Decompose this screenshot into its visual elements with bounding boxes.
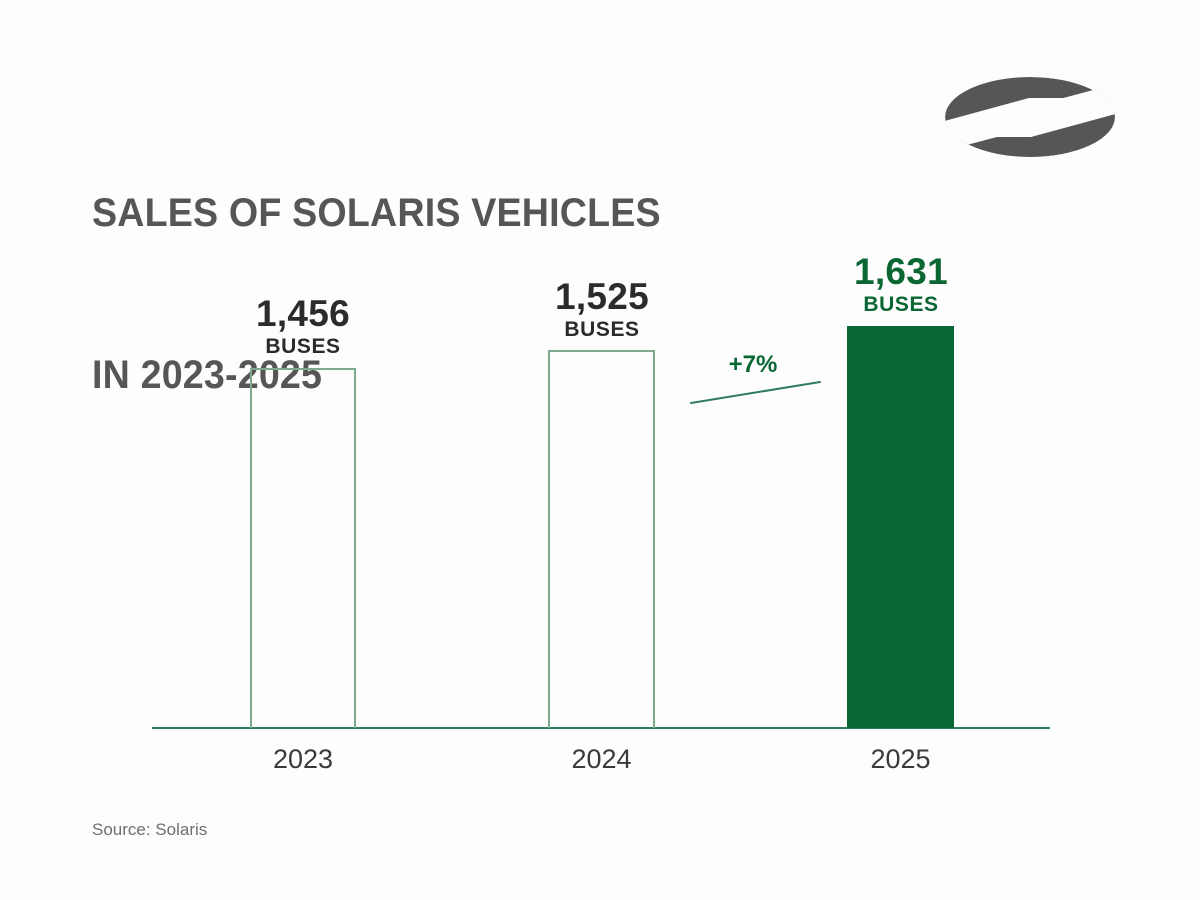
bar-value-unit-2023: BUSES (190, 334, 416, 360)
bar-value-number-2024: 1,525 (489, 277, 715, 317)
x-axis-label-2023: 2023 (233, 742, 373, 776)
bar-chart: 1,456 BUSES 2023 1,525 BUSES 2024 1,631 … (0, 0, 1200, 900)
bar-value-label-2025: 1,631 BUSES (788, 252, 1014, 318)
growth-trend-line-icon (686, 372, 826, 412)
bar-value-label-2024: 1,525 BUSES (489, 277, 715, 343)
bar-2023[interactable] (250, 368, 356, 728)
chart-page: SALES OF SOLARIS VEHICLES IN 2023-2025 1… (0, 0, 1200, 900)
x-axis-label-2025: 2025 (831, 742, 971, 776)
source-note: Source: Solaris (92, 818, 207, 842)
bar-value-number-2023: 1,456 (190, 294, 416, 334)
bar-2025[interactable] (847, 326, 954, 728)
bar-2024[interactable] (548, 350, 655, 728)
bar-value-unit-2024: BUSES (489, 317, 715, 343)
x-axis-label-2024: 2024 (532, 742, 672, 776)
bar-value-label-2023: 1,456 BUSES (190, 294, 416, 360)
bar-value-number-2025: 1,631 (788, 252, 1014, 292)
bar-value-unit-2025: BUSES (788, 292, 1014, 318)
